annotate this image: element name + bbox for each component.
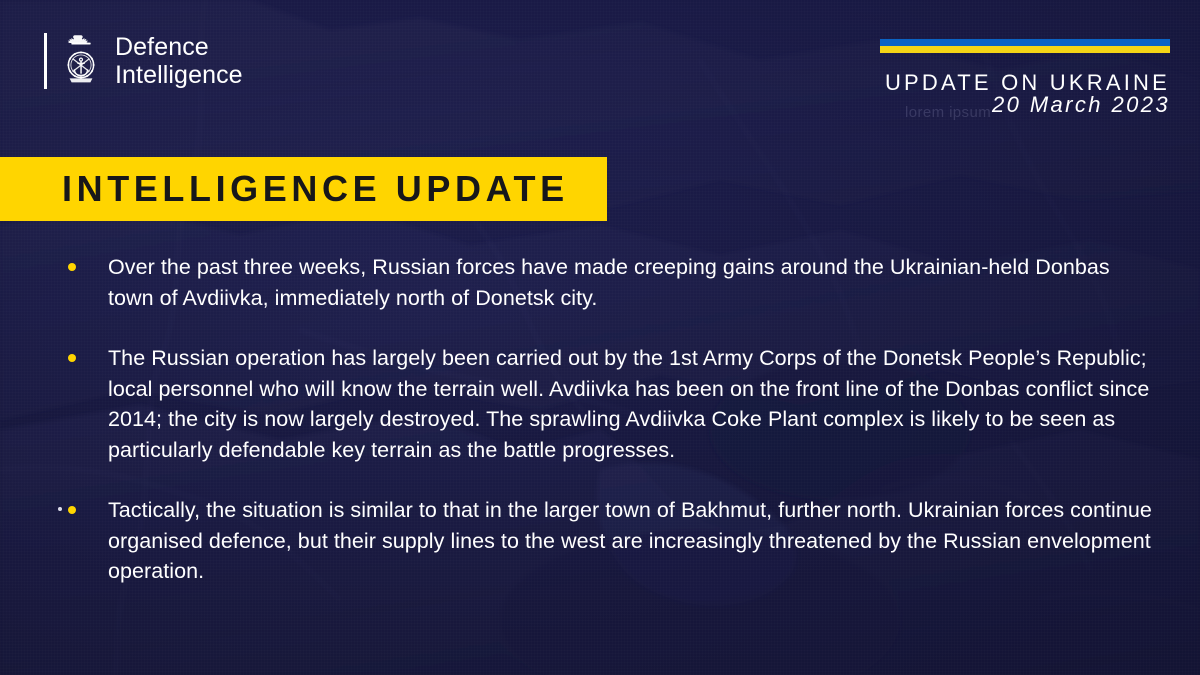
ghost-placeholder-text: lorem ipsum [905, 104, 991, 121]
flag-stripe-yellow [880, 46, 1170, 53]
list-item: The Russian operation has largely been c… [64, 343, 1154, 465]
mod-defence-intelligence-crest-icon [60, 33, 102, 89]
flag-stripe-blue [880, 39, 1170, 46]
bullet-dot-icon [68, 506, 76, 514]
ukraine-flag-bar-icon [880, 39, 1170, 53]
logo-divider-rule [44, 33, 47, 89]
slide-canvas: Defence Intelligence lorem ipsum UPDATE … [0, 0, 1200, 675]
list-item: Over the past three weeks, Russian force… [64, 252, 1154, 313]
bullet-list: Over the past three weeks, Russian force… [64, 252, 1154, 587]
bullet-text: Tactically, the situation is similar to … [108, 495, 1154, 587]
update-date: 20 March 2023 [992, 92, 1170, 118]
header: Defence Intelligence lorem ipsum UPDATE … [0, 0, 1200, 140]
list-item: Tactically, the situation is similar to … [64, 495, 1154, 587]
defence-intelligence-logo: Defence Intelligence [44, 33, 243, 89]
banner-label: INTELLIGENCE UPDATE [62, 168, 569, 210]
bullet-dot-icon [68, 263, 76, 271]
intelligence-update-banner: INTELLIGENCE UPDATE [0, 157, 607, 221]
bullet-text: Over the past three weeks, Russian force… [108, 252, 1154, 313]
logo-line-2: Intelligence [115, 61, 243, 89]
logo-wordmark: Defence Intelligence [115, 33, 243, 89]
bullet-text: The Russian operation has largely been c… [108, 343, 1154, 465]
bullet-dot-icon [68, 354, 76, 362]
logo-line-1: Defence [115, 33, 243, 61]
